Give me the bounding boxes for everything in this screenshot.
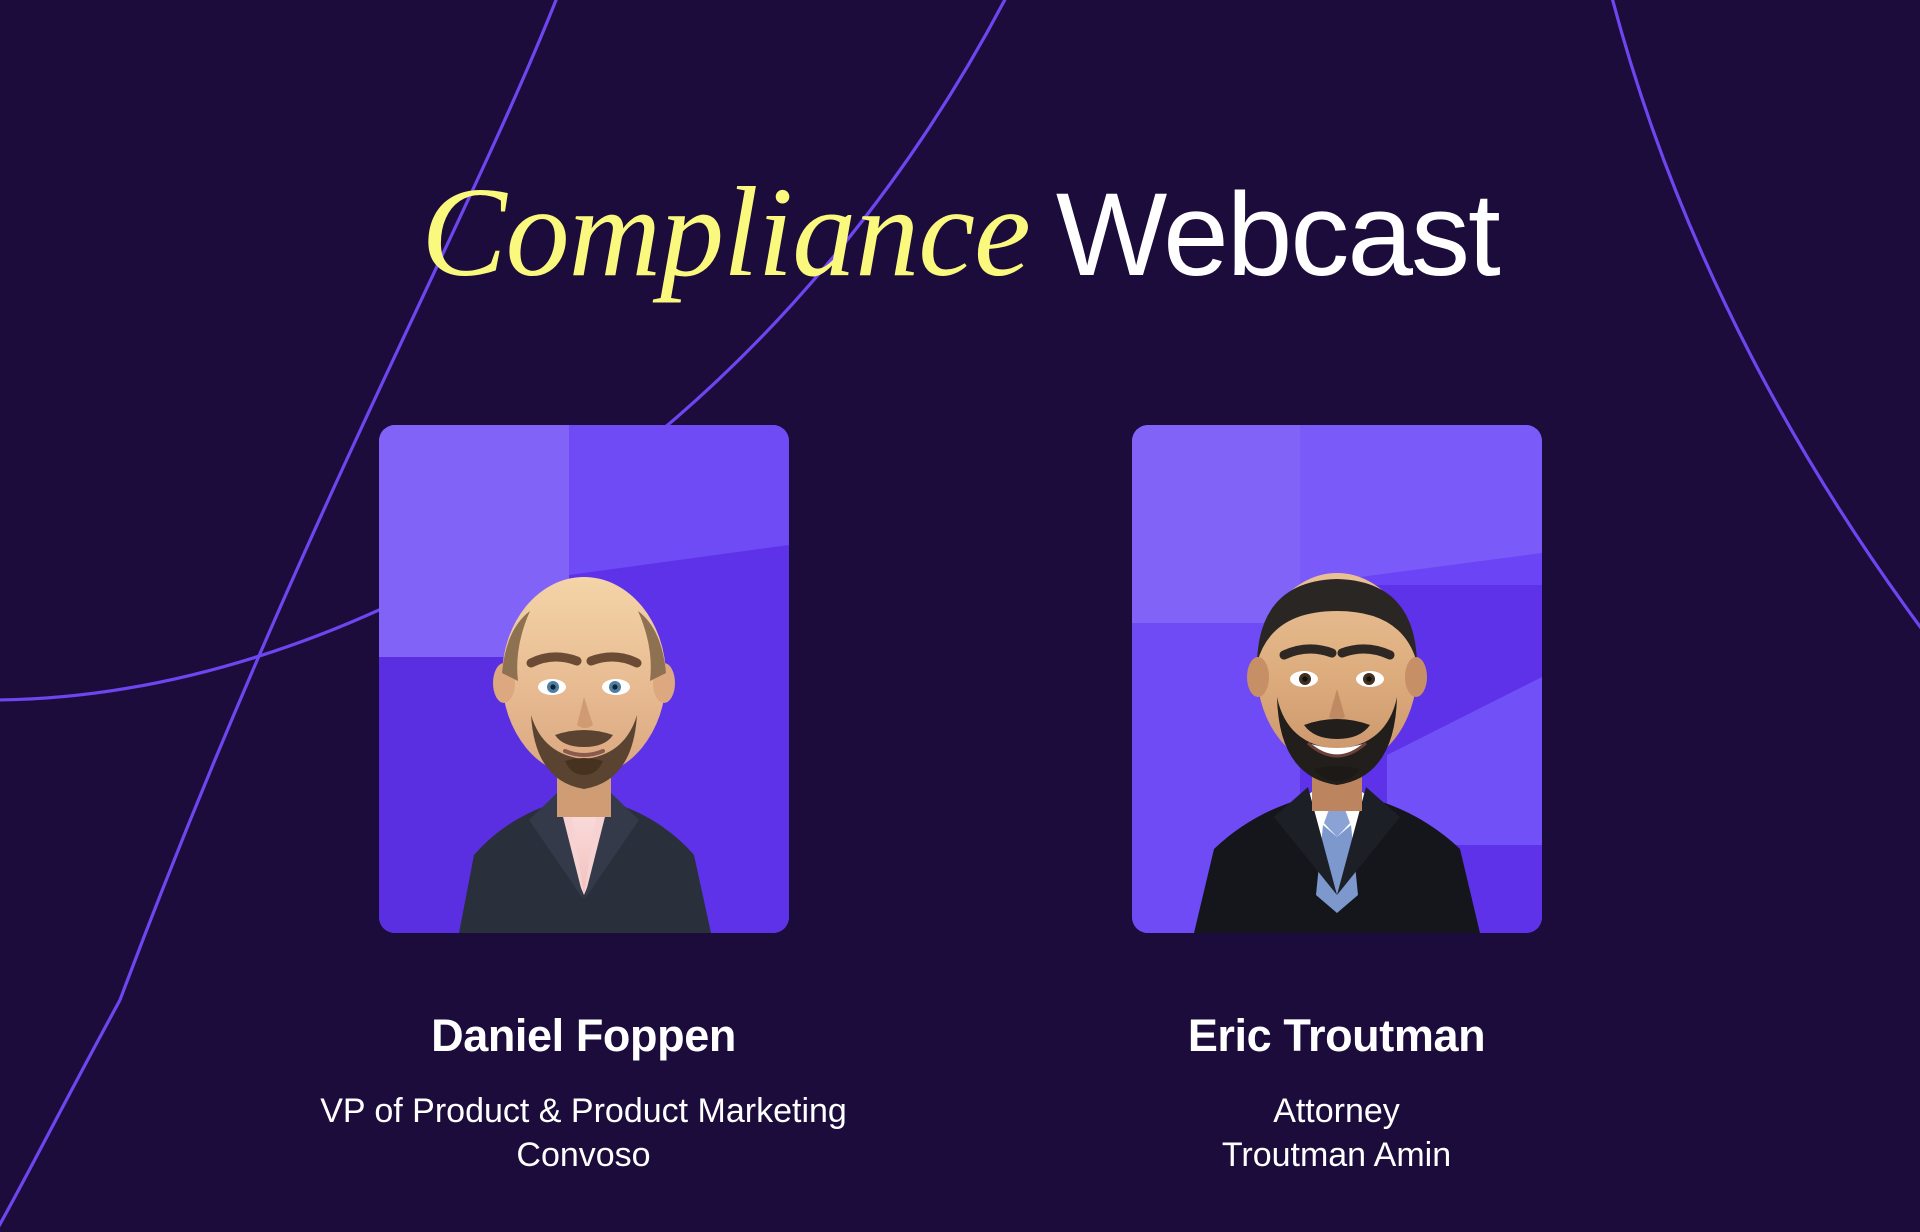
speaker-role: VP of Product & Product Marketing: [320, 1089, 847, 1134]
speaker-card: Daniel Foppen VP of Product & Product Ma…: [379, 425, 789, 1178]
page-title-script-word: Compliance: [421, 161, 1030, 303]
speaker-photo: [1132, 425, 1542, 933]
speaker-list: Daniel Foppen VP of Product & Product Ma…: [0, 425, 1920, 1178]
speaker-organization: Troutman Amin: [1222, 1133, 1451, 1178]
webcast-title-slide: ComplianceWebcast: [0, 0, 1920, 1232]
speaker-name: Eric Troutman: [1188, 1011, 1485, 1061]
speaker-card: Eric Troutman Attorney Troutman Amin: [1132, 425, 1542, 1178]
speaker-role: Attorney: [1273, 1089, 1400, 1134]
page-title: ComplianceWebcast: [0, 168, 1920, 296]
speaker-organization: Convoso: [516, 1133, 650, 1178]
page-title-plain-word: Webcast: [1056, 169, 1499, 301]
speaker-photo: [379, 425, 789, 933]
speaker-name: Daniel Foppen: [431, 1011, 736, 1061]
